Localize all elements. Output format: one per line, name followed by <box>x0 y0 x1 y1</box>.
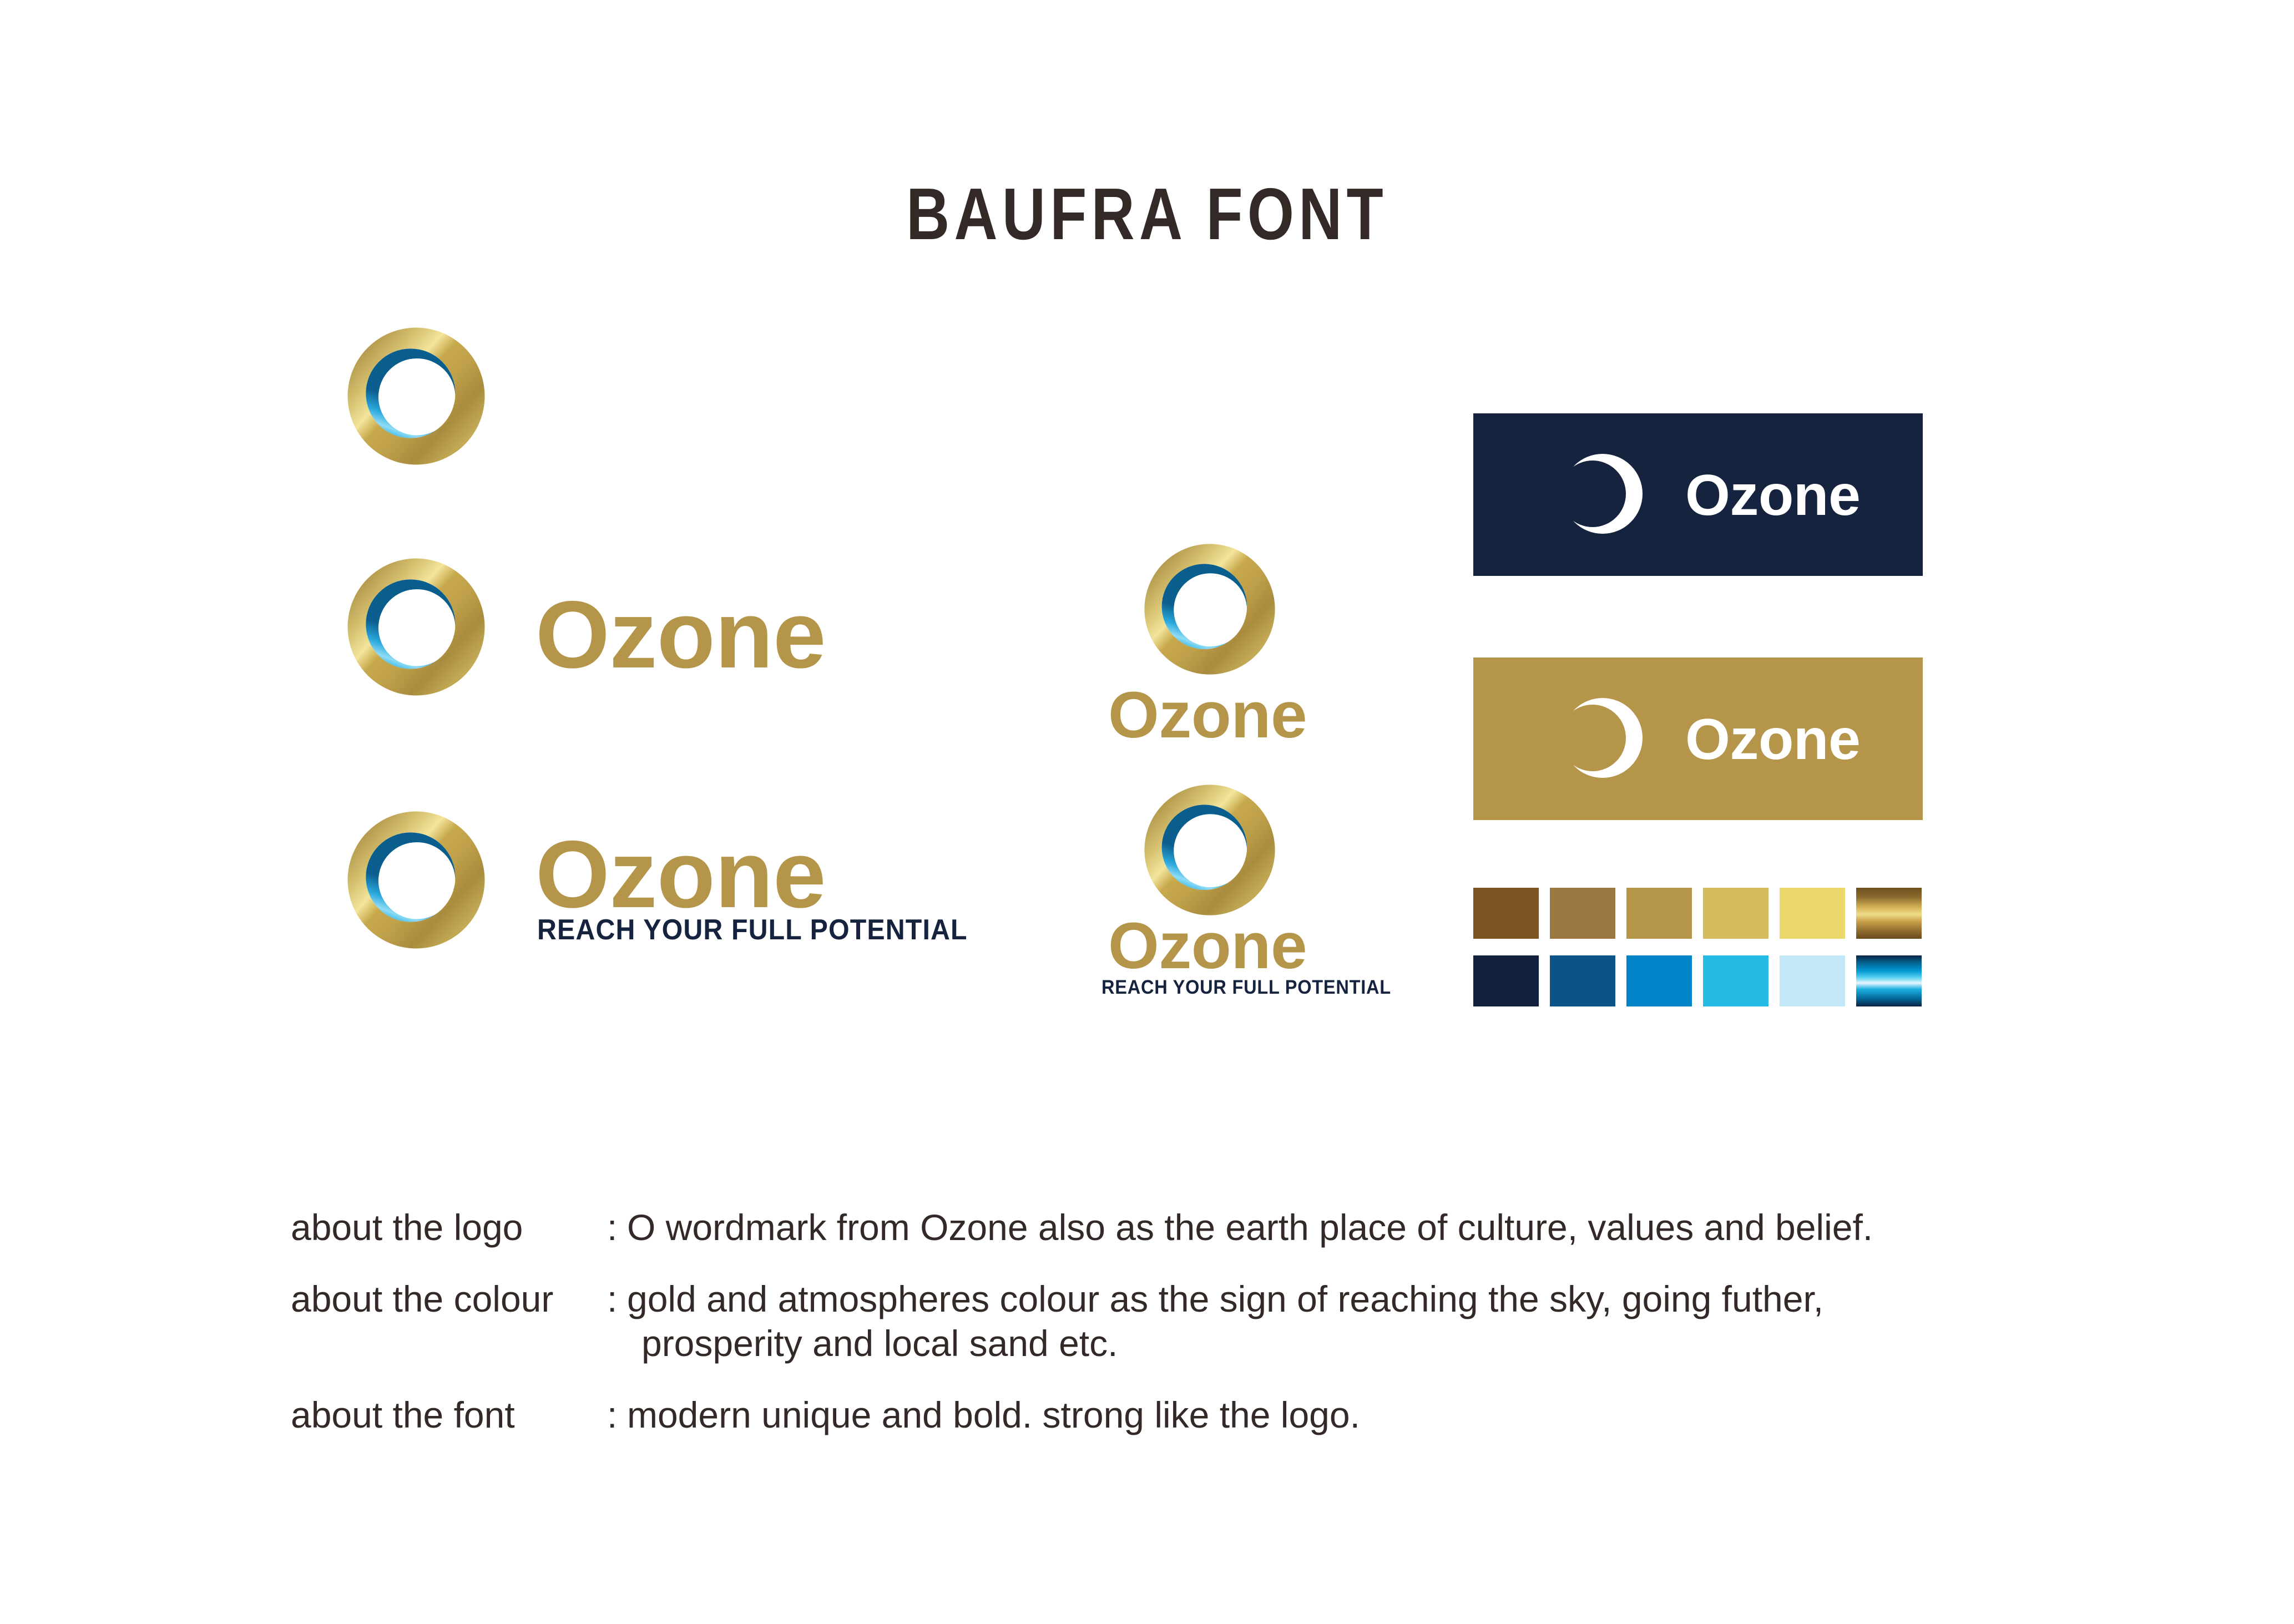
swatch-blue-4-sky[interactable] <box>1703 955 1768 1006</box>
swatch-gold-3-brand-gold[interactable] <box>1626 888 1692 939</box>
navy-card-wordmark: Ozone <box>1685 467 1860 524</box>
description-list: about the logo:O wordmark from Ozone als… <box>291 1205 2066 1464</box>
logo-tagline-stacked: REACH YOUR FULL POTENTIAL <box>1101 978 1391 997</box>
swatch-gold-6-metallic-gradient[interactable] <box>1856 888 1922 939</box>
ozone-crescent-icon <box>1561 696 1644 780</box>
description-label-logo: about the logo <box>291 1205 607 1250</box>
description-value-logo: O wordmark from Ozone also as the earth … <box>627 1205 1873 1250</box>
logo-variant-horizontal-mark <box>346 557 486 697</box>
ozone-ring-icon <box>1143 543 1276 676</box>
logo-wordmark-stacked-tagline: Ozone <box>1108 913 1307 979</box>
ozone-ring-icon <box>1143 783 1276 917</box>
gold-colour-card: Ozone <box>1473 657 1923 820</box>
logo-variant-stacked-tagline-mark <box>1143 783 1276 917</box>
ozone-ring-icon <box>346 810 486 950</box>
swatch-blue-1-navy[interactable] <box>1473 955 1539 1006</box>
description-colon-logo: : <box>607 1205 627 1250</box>
swatch-blue-2-deep-blue[interactable] <box>1550 955 1615 1006</box>
description-row-font: about the font:modern unique and bold. s… <box>291 1393 2066 1438</box>
ozone-crescent-icon <box>1561 452 1644 535</box>
logo-wordmark-stacked: Ozone <box>1108 682 1307 748</box>
logo-tagline-horizontal: REACH YOUR FULL POTENTIAL <box>537 915 968 944</box>
ozone-ring-icon <box>346 557 486 697</box>
logo-variant-horizontal-tagline-mark <box>346 810 486 950</box>
colour-palette-grid <box>1473 888 1923 1007</box>
swatch-gold-4-light-gold[interactable] <box>1703 888 1768 939</box>
description-label-font: about the font <box>291 1393 607 1438</box>
logo-variant-mark-only <box>346 326 486 466</box>
ozone-ring-icon <box>346 326 486 466</box>
description-value-font: modern unique and bold. strong like the … <box>627 1393 1360 1438</box>
description-value-colour-line2: prosperity and local sand etc. <box>291 1321 2066 1366</box>
swatch-blue-3-azure[interactable] <box>1626 955 1692 1006</box>
description-value-colour: gold and atmospheres colour as the sign … <box>627 1277 1823 1322</box>
navy-colour-card: Ozone <box>1473 413 1923 576</box>
description-colon-font: : <box>607 1393 627 1438</box>
page-title: BAUFRA FONT <box>206 172 2088 256</box>
logo-wordmark-horizontal: Ozone <box>535 587 826 682</box>
description-colon-colour: : <box>607 1277 627 1322</box>
swatch-gold-5-pale-gold[interactable] <box>1780 888 1845 939</box>
logo-wordmark-horizontal-tagline: Ozone <box>535 827 826 922</box>
swatch-blue-6-metallic-gradient[interactable] <box>1856 955 1922 1006</box>
swatch-gold-2-bronze[interactable] <box>1550 888 1615 939</box>
description-row-colour: about the colour:gold and atmospheres co… <box>291 1277 2066 1366</box>
description-label-colour: about the colour <box>291 1277 607 1322</box>
gold-card-wordmark: Ozone <box>1685 711 1860 768</box>
logo-variant-stacked-mark <box>1143 543 1276 676</box>
description-row-logo: about the logo:O wordmark from Ozone als… <box>291 1205 2066 1250</box>
swatch-gold-1-dark-bronze[interactable] <box>1473 888 1539 939</box>
swatch-blue-5-pale-sky[interactable] <box>1780 955 1845 1006</box>
